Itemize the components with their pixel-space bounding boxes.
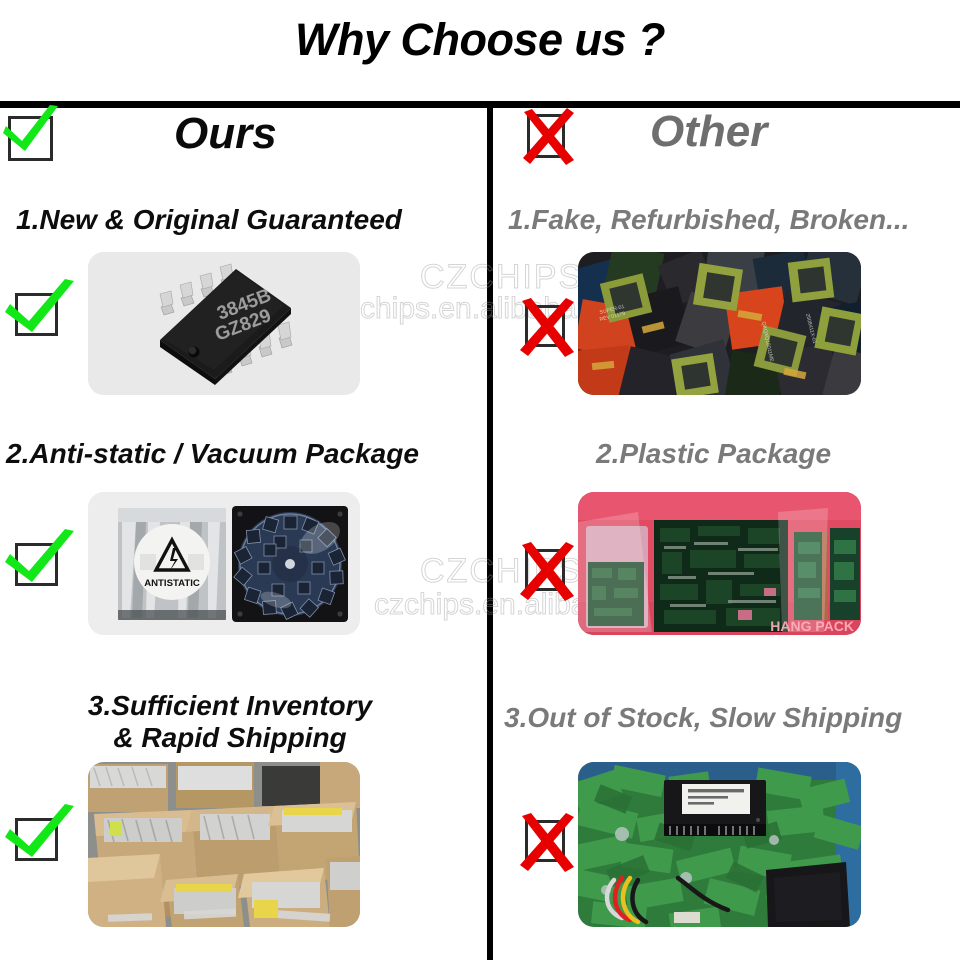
column-divider: [487, 108, 493, 960]
photo-other-plastic-package: HANG PACK: [578, 492, 861, 635]
row-2-check-icon: [15, 543, 58, 586]
photo-other-out-of-stock: [578, 762, 861, 927]
feature-label-other-3: 3.Out of Stock, Slow Shipping: [504, 702, 902, 734]
header-check-icon: [8, 116, 53, 161]
plastic-bag-print: HANG PACK: [770, 618, 854, 634]
feature-label-ours-3-line2: & Rapid Shipping: [113, 722, 346, 753]
watermark-brand: CZCHIPS: [420, 258, 583, 297]
feature-label-ours-2: 2.Anti-static / Vacuum Package: [6, 438, 419, 470]
column-heading-other: Other: [650, 107, 767, 157]
antistatic-label: ANTISTATIC: [144, 578, 200, 589]
row-3-cross-icon: [525, 820, 565, 862]
row-2-cross-icon: [525, 549, 565, 591]
header-divider-rule: [0, 101, 960, 108]
feature-label-other-2: 2.Plastic Package: [596, 438, 831, 470]
feature-label-other-1: 1.Fake, Refurbished, Broken...: [508, 204, 909, 236]
feature-label-ours-3-line1: 3.Sufficient Inventory: [88, 690, 372, 721]
row-1-cross-icon: [525, 305, 565, 347]
photo-ours-antistatic-package: ANTISTATIC: [88, 492, 360, 635]
photo-ours-new-original: 3845B GZ829: [88, 252, 360, 395]
column-heading-ours: Ours: [174, 109, 277, 159]
row-3-check-icon: [15, 818, 58, 861]
header-cross-icon: [527, 114, 565, 158]
row-1-check-icon: [15, 293, 58, 336]
photo-ours-inventory-shipping: [88, 762, 360, 927]
feature-label-ours-3: 3.Sufficient Inventory & Rapid Shipping: [60, 690, 400, 754]
feature-label-ours-1: 1.New & Original Guaranteed: [16, 204, 402, 236]
page-title: Why Choose us ?: [0, 14, 960, 66]
photo-other-fake-broken: SUPER-01 REV 01179 QXQXQ18011ME 2508411X…: [578, 252, 861, 395]
